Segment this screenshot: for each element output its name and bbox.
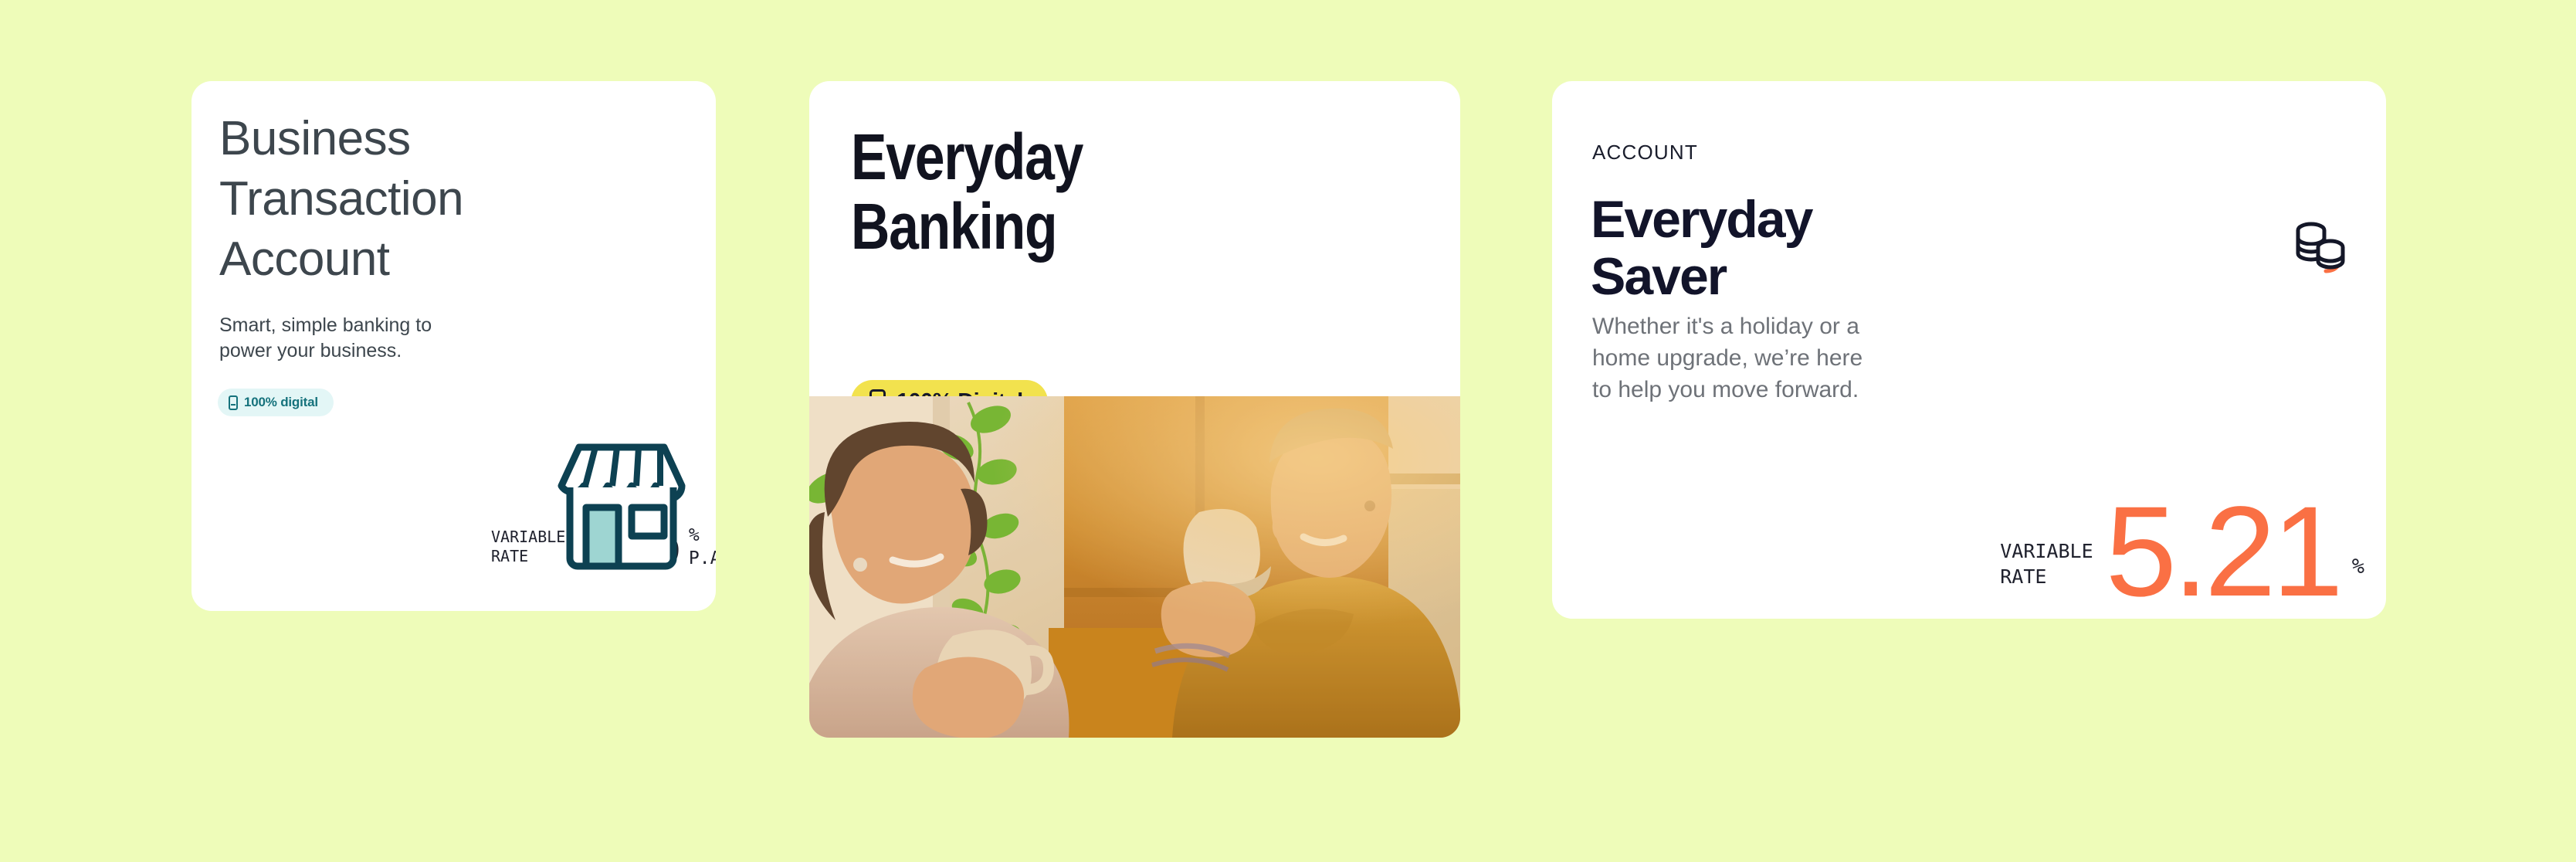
card-subtitle: Smart, simple banking to power your busi… [219,313,528,364]
rate-block: VARIABLE RATE 5.21 % [2000,502,2364,602]
badge-label: 100% digital [244,395,318,410]
card-everyday-saver[interactable]: ACCOUNT Everyday Saver Whether it's a ho… [1552,81,2386,619]
page-canvas: Business Transaction Account Smart, simp… [0,0,2576,862]
rate-value: 5.21 [2106,502,2340,602]
lifestyle-photo [809,396,1460,738]
card-business-transaction-account[interactable]: Business Transaction Account Smart, simp… [192,81,716,611]
card-eyebrow: ACCOUNT [1592,141,1698,165]
rate-label: VARIABLE RATE [2000,539,2093,602]
rate-percent-symbol: % [2352,555,2364,602]
card-subtitle: Whether it's a holiday or a home upgrade… [1592,311,1978,406]
card-title: Business Transaction Account [219,109,590,290]
coin-stacks-icon [2290,216,2351,277]
badge-100-percent-digital[interactable]: 100% digital [218,389,334,416]
card-title: Everyday Saver [1591,191,1812,305]
mobile-phone-icon [229,395,238,410]
storefront-icon [544,430,699,585]
photo-illustration [809,396,1460,738]
card-everyday-banking[interactable]: Everyday Banking 100% Digital [809,81,1460,738]
card-title: Everyday Banking [851,123,1083,262]
